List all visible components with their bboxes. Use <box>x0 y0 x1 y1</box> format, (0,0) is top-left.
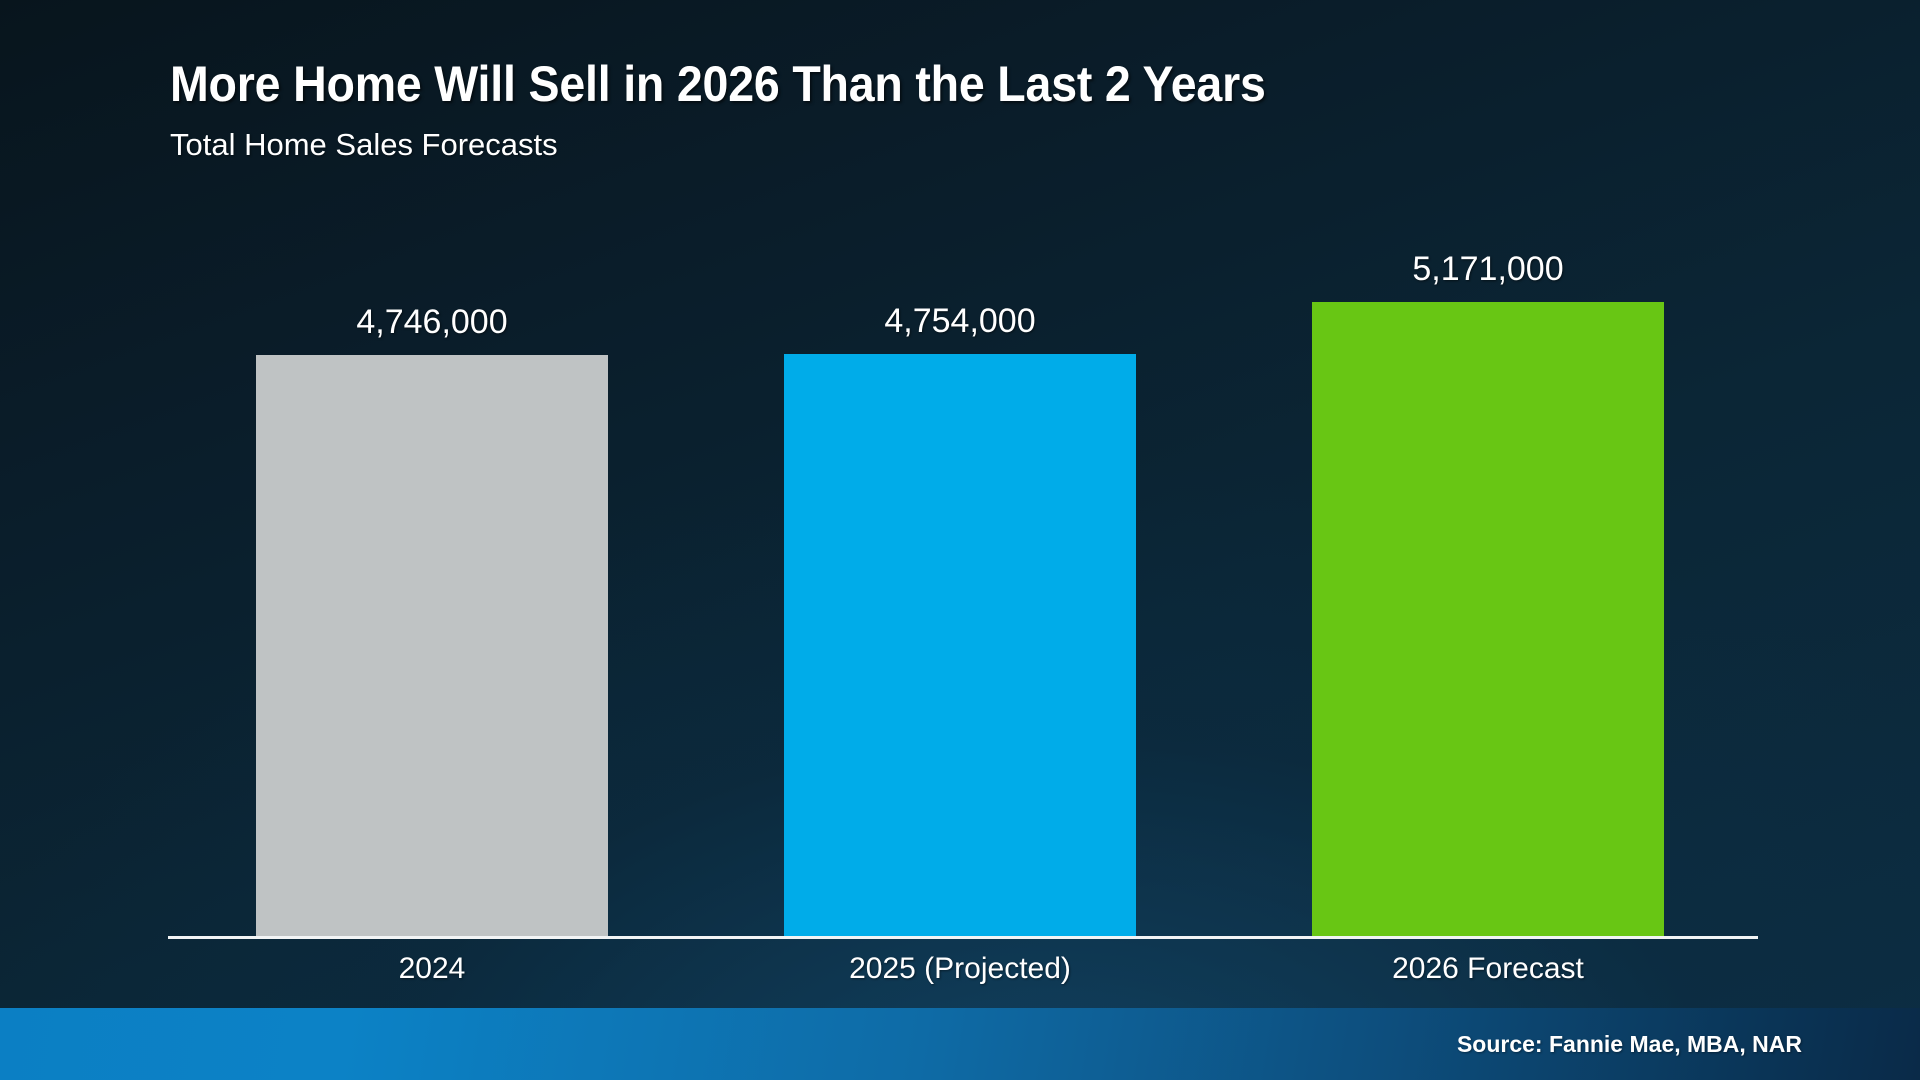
bar-rect-2026[interactable] <box>1312 302 1664 938</box>
bar-value-label: 4,746,000 <box>356 303 507 342</box>
chart-header: More Home Will Sell in 2026 Than the Las… <box>170 58 1348 163</box>
bar-series: 4,746,000 4,754,000 5,171,000 <box>168 250 1752 938</box>
axis-label-2024: 2024 <box>256 952 608 986</box>
chart-subtitle: Total Home Sales Forecasts <box>170 127 1348 163</box>
bar-group-2024: 4,746,000 <box>256 250 608 938</box>
page-title: More Home Will Sell in 2026 Than the Las… <box>170 58 1266 111</box>
bar-rect-2025[interactable] <box>784 354 1136 938</box>
x-axis-line <box>168 936 1758 939</box>
bar-group-2025: 4,754,000 <box>784 250 1136 938</box>
footer-bar: Source: Fannie Mae, MBA, NAR <box>0 1008 1920 1080</box>
bar-group-2026: 5,171,000 <box>1312 250 1664 938</box>
bar-value-label: 4,754,000 <box>884 302 1035 341</box>
bar-rect-2024[interactable] <box>256 355 608 938</box>
x-axis-labels: 2024 2025 (Projected) 2026 Forecast <box>168 952 1752 986</box>
plot-area: 4,746,000 4,754,000 5,171,000 <box>168 250 1752 938</box>
axis-label-2025: 2025 (Projected) <box>784 952 1136 986</box>
bar-value-label: 5,171,000 <box>1412 250 1563 289</box>
chart-slide: More Home Will Sell in 2026 Than the Las… <box>0 0 1920 1080</box>
axis-label-2026: 2026 Forecast <box>1312 952 1664 986</box>
source-attribution: Source: Fannie Mae, MBA, NAR <box>1457 1031 1802 1058</box>
